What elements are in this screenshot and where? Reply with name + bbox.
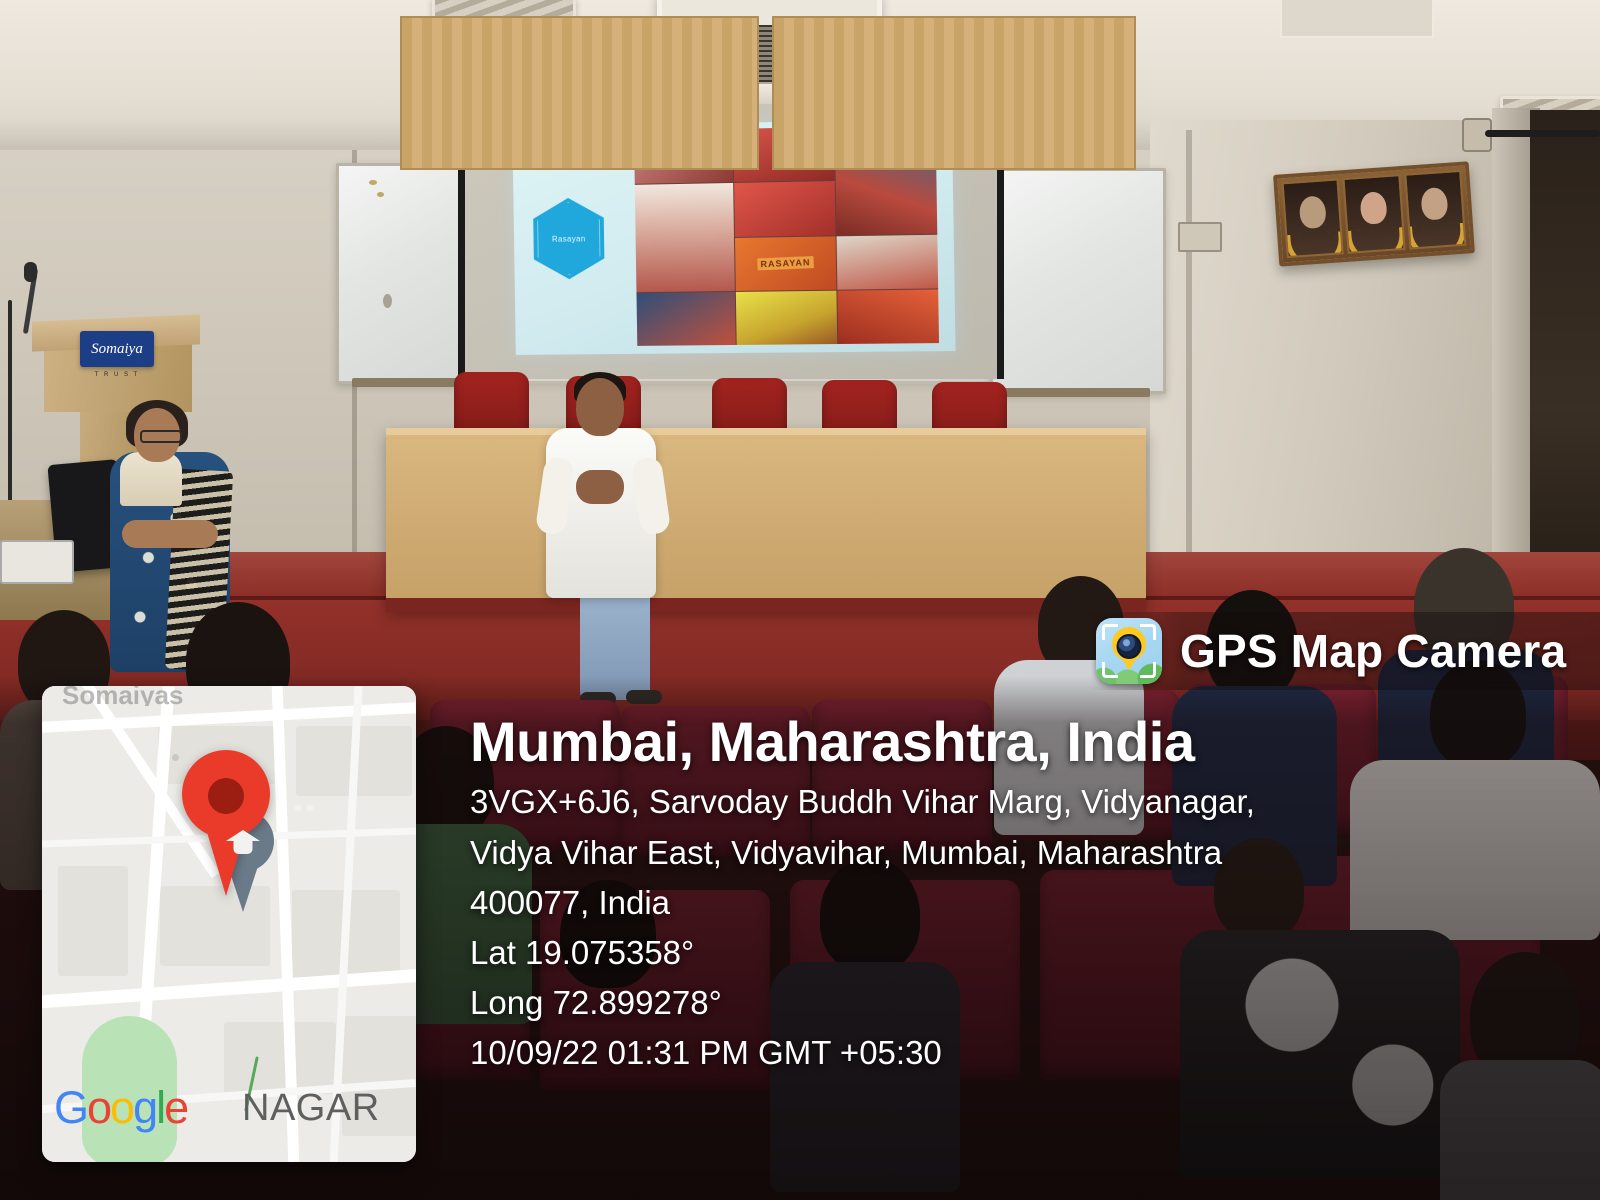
google-logo: Google	[54, 1082, 187, 1134]
location-title: Mumbai, Maharashtra, India	[470, 712, 1550, 771]
framed-portraits	[1273, 161, 1475, 266]
collage-banner-label: RASAYAN	[757, 256, 814, 270]
presenter-hands	[576, 470, 624, 504]
location-info-block: Mumbai, Maharashtra, India 3VGX+6J6, Sar…	[470, 712, 1550, 1078]
portrait-frame	[1282, 178, 1344, 258]
head-table-panel	[772, 16, 1136, 170]
map-dots	[294, 804, 316, 812]
address-line-3: 400077, India	[470, 878, 1550, 928]
attendee-arms	[122, 520, 218, 548]
whiteboard-tray	[1000, 388, 1150, 397]
viewfinder-bracket-icon	[1102, 662, 1118, 678]
whiteboard-tray	[352, 378, 462, 387]
hexagon-shape: Rasayan	[533, 197, 605, 279]
google-logo-letter: g	[133, 1082, 156, 1133]
viewfinder-bracket-icon	[1102, 624, 1118, 640]
latitude-value: Lat 19.075358°	[470, 928, 1550, 978]
wall-switch-plate	[1178, 222, 1222, 252]
wall-cable	[1485, 130, 1600, 137]
doorway	[1530, 110, 1600, 610]
longitude-value: Long 72.899278°	[470, 978, 1550, 1028]
portrait-frame	[1404, 170, 1466, 250]
viewfinder-bracket-icon	[1140, 662, 1156, 678]
hexagon-label: Rasayan	[552, 234, 586, 243]
app-name: GPS Map Camera	[1180, 624, 1566, 678]
garland-icon	[1407, 223, 1466, 250]
map-faded-label: Somaiyas	[62, 686, 322, 706]
gps-map-camera-logo-icon	[1096, 618, 1162, 684]
whiteboard-left	[336, 163, 472, 384]
google-logo-letter: l	[156, 1082, 164, 1133]
timestamp-value: 10/09/22 01:31 PM GMT +05:30	[470, 1028, 1550, 1078]
google-logo-letter: e	[164, 1082, 187, 1133]
camera-lens-icon	[1117, 634, 1142, 659]
map-dot	[172, 754, 179, 761]
garland-icon	[1285, 231, 1344, 258]
portrait-frame	[1343, 174, 1405, 254]
attendee-glasses-icon	[140, 430, 182, 443]
podium-plaque-subtitle: T R U S T	[95, 372, 139, 378]
garland-icon	[1346, 227, 1405, 254]
map-canvas: Somaiyas NAGAR Google	[42, 686, 416, 1162]
map-pin-icon[interactable]	[182, 750, 270, 838]
whiteboard-right	[990, 168, 1166, 394]
presenter-head	[576, 378, 624, 436]
address-line-1: 3VGX+6J6, Sarvoday Buddh Vihar Marg, Vid…	[470, 777, 1550, 827]
head-table	[386, 428, 1146, 610]
gps-map-camera-photo: ACTIVITY Rasayan RASAYAN	[0, 0, 1600, 1200]
map-thumbnail-card[interactable]: Somaiyas NAGAR Google	[42, 686, 416, 1162]
map-area-label: NAGAR	[242, 1087, 380, 1130]
podium-plaque: Somaiya T R U S T	[80, 331, 154, 367]
podium-plaque-name: Somaiya	[91, 342, 143, 357]
microphone-icon	[24, 262, 37, 282]
app-branding: GPS Map Camera	[1096, 618, 1566, 684]
head-table-panel	[400, 16, 759, 170]
google-logo-letter: o	[87, 1082, 110, 1133]
laptop	[0, 540, 74, 584]
google-logo-letter: G	[54, 1082, 87, 1133]
viewfinder-bracket-icon	[1140, 624, 1156, 640]
ceiling-panel	[1280, 0, 1434, 38]
google-logo-letter: o	[110, 1082, 133, 1133]
address-line-2: Vidya Vihar East, Vidyavihar, Mumbai, Ma…	[470, 828, 1550, 878]
head-table-base	[386, 598, 1146, 612]
